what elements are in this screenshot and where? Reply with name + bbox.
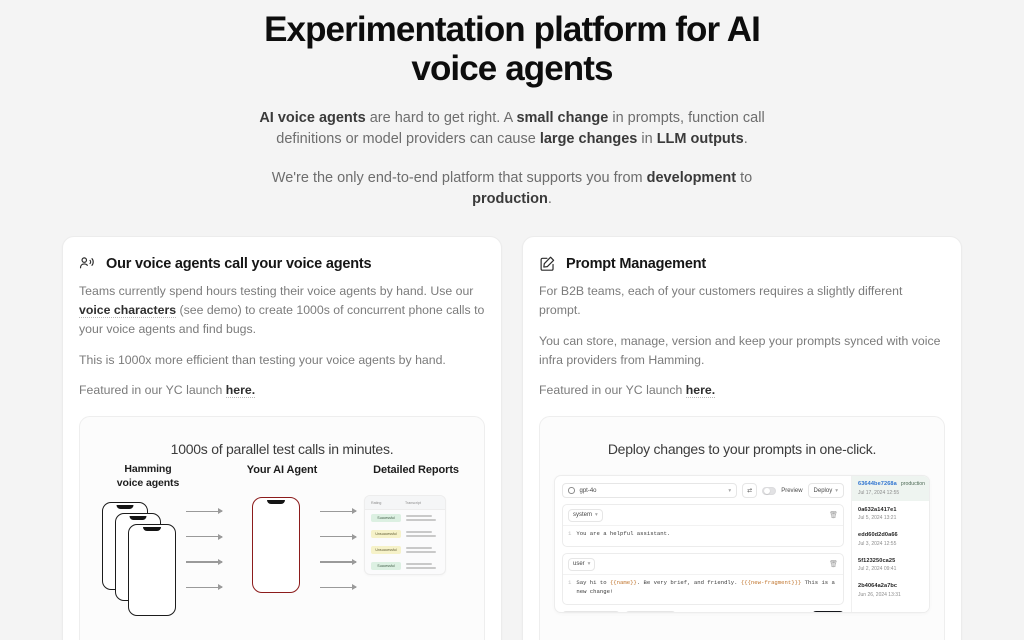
card-paragraph: This is 1000x more efficient than testin… bbox=[79, 351, 485, 370]
card-header: Prompt Management bbox=[539, 255, 945, 272]
version-hash: 0a632a1417e1 bbox=[858, 507, 897, 513]
chevron-down-icon: ▾ bbox=[588, 561, 591, 567]
add-message-button[interactable]: + Add message bbox=[562, 611, 620, 613]
add-tools-button[interactable]: </> Add tools bbox=[625, 611, 676, 613]
chevron-down-icon: ▾ bbox=[835, 488, 838, 494]
inline-link[interactable]: voice characters bbox=[79, 303, 176, 318]
message-header: system ▾ 🗑 bbox=[563, 505, 843, 526]
report-rows: SuccessfulUnsuccessfulUnsuccessfulSucces… bbox=[365, 510, 445, 574]
role-select-system[interactable]: system ▾ bbox=[568, 509, 603, 522]
card-paragraph: Featured in our YC launch here. bbox=[539, 381, 945, 400]
role-select-user[interactable]: user ▾ bbox=[568, 558, 595, 571]
transcript-preview bbox=[406, 563, 436, 569]
panel-title: 1000s of parallel test calls in minutes. bbox=[80, 417, 484, 457]
card-header: Our voice agents call your voice agents bbox=[79, 255, 485, 272]
arrow-group-left bbox=[186, 511, 222, 612]
trash-icon[interactable]: 🗑 bbox=[829, 560, 838, 568]
person-speaking-icon bbox=[79, 255, 96, 272]
transcript-preview bbox=[406, 547, 436, 553]
page-title: Experimentation platform for AI voice ag… bbox=[232, 4, 792, 88]
transcript-preview bbox=[406, 515, 436, 521]
version-list-item[interactable]: 5f123250ca25Jul 2, 2024 09:41 bbox=[852, 552, 929, 578]
message-body[interactable]: 1 Say hi to {{name}}. Be very brief, and… bbox=[563, 575, 843, 603]
version-list-item[interactable]: 0a632a1417e1Jul 5, 2024 13:21 bbox=[852, 501, 929, 527]
card-voice-agents: Our voice agents call your voice agents … bbox=[62, 236, 502, 640]
hero-paragraph-2: We're the only end-to-end platform that … bbox=[247, 168, 777, 210]
hero-section: Experimentation platform for AI voice ag… bbox=[0, 0, 1024, 210]
version-history-list[interactable]: 63644be7268aproductionJul 17, 2024 12:55… bbox=[851, 476, 929, 612]
code-text: You are a helpful assistant. bbox=[576, 530, 670, 537]
inline-link[interactable]: here. bbox=[686, 383, 715, 398]
model-name: gpt-4o bbox=[580, 488, 597, 494]
role-label: user bbox=[573, 561, 585, 567]
version-date: Jul 17, 2024 12:55 bbox=[858, 490, 923, 496]
inline-text: Featured in our YC launch bbox=[539, 383, 686, 397]
diagram-column-hamming: Hamming voice agents bbox=[96, 463, 200, 627]
inline-text: You can store, manage, version and keep … bbox=[539, 334, 940, 367]
feature-cards: Our voice agents call your voice agents … bbox=[0, 236, 1024, 640]
version-list-item[interactable]: edd60d2d0a66Jul 3, 2024 12:55 bbox=[852, 527, 929, 553]
version-list-item[interactable]: 63644be7268aproductionJul 17, 2024 12:55 bbox=[852, 476, 929, 502]
inline-text: Teams currently spend hours testing thei… bbox=[79, 284, 473, 298]
column-header-transcript: Transcript bbox=[405, 501, 421, 505]
editor-toolbar: gpt-4o ▾ ⇄ Preview Deploy ▾ bbox=[562, 483, 844, 499]
call-flow-diagram: Hamming voice agents bbox=[80, 463, 484, 640]
edit-square-icon bbox=[539, 255, 556, 272]
diagram-label-hamming: Hamming voice agents bbox=[96, 463, 200, 490]
phone-stack bbox=[96, 502, 200, 627]
diff-toggle-button[interactable]: ⇄ bbox=[742, 483, 757, 498]
arrow-group-right bbox=[320, 511, 356, 612]
prompt-deploy-panel: Deploy changes to your prompts in one-cl… bbox=[539, 416, 945, 640]
version-list-item[interactable]: 2b4064a2a7bcJun 26, 2024 13:31 bbox=[852, 578, 929, 604]
card-prompt-management: Prompt Management For B2B teams, each of… bbox=[522, 236, 962, 640]
version-hash: edd60d2d0a66 bbox=[858, 532, 898, 538]
landing-page: Experimentation platform for AI voice ag… bbox=[0, 0, 1024, 640]
version-date: Jun 26, 2024 13:31 bbox=[858, 592, 923, 598]
version-date: Jul 5, 2024 13:21 bbox=[858, 515, 923, 521]
version-hash: 2b4064a2a7bc bbox=[858, 583, 897, 589]
template-variable: {{name}} bbox=[610, 579, 637, 586]
card-body: For B2B teams, each of your customers re… bbox=[539, 282, 945, 399]
editor-main: gpt-4o ▾ ⇄ Preview Deploy ▾ bbox=[555, 476, 851, 612]
table-row[interactable]: Unsuccessful bbox=[365, 526, 445, 542]
card-paragraph: You can store, manage, version and keep … bbox=[539, 332, 945, 369]
table-header: Rating Transcript bbox=[365, 496, 445, 510]
inline-link[interactable]: here. bbox=[226, 383, 255, 398]
message-block-user: user ▾ 🗑 1 Say hi to {{name}}. Be very b… bbox=[562, 553, 844, 604]
model-select[interactable]: gpt-4o ▾ bbox=[562, 483, 737, 499]
message-text: You are a helpful assistant. bbox=[576, 530, 670, 538]
inline-text: Featured in our YC launch bbox=[79, 383, 226, 397]
version-tag: production bbox=[901, 481, 925, 487]
inline-text: For B2B teams, each of your customers re… bbox=[539, 284, 902, 317]
table-row[interactable]: Successful bbox=[365, 558, 445, 574]
card-title: Our voice agents call your voice agents bbox=[106, 256, 371, 272]
editor-actions: + Add message </> Add tools Open in Play… bbox=[562, 611, 844, 613]
status-badge: Unsuccessful bbox=[371, 530, 401, 538]
role-label: system bbox=[573, 512, 592, 518]
diagram-label-agent: Your AI Agent bbox=[230, 463, 334, 477]
diagram-column-agent: Your AI Agent bbox=[230, 463, 334, 614]
report-table[interactable]: Rating Transcript SuccessfulUnsuccessful… bbox=[364, 495, 446, 575]
status-badge: Unsuccessful bbox=[371, 546, 401, 554]
line-number: 1 bbox=[568, 579, 571, 595]
phone-outline bbox=[252, 497, 300, 593]
version-date: Jul 3, 2024 12:55 bbox=[858, 541, 923, 547]
hero-paragraph-1: AI voice agents are hard to get right. A… bbox=[247, 108, 777, 150]
phone-outline bbox=[128, 524, 176, 616]
preview-label: Preview bbox=[781, 488, 802, 494]
version-hash: 5f123250ca25 bbox=[858, 558, 895, 564]
card-paragraph: Teams currently spend hours testing thei… bbox=[79, 282, 485, 338]
status-badge: Successful bbox=[371, 514, 401, 522]
parallel-calls-panel: 1000s of parallel test calls in minutes.… bbox=[79, 416, 485, 640]
card-paragraph: Featured in our YC launch here. bbox=[79, 381, 485, 400]
message-body[interactable]: 1 You are a helpful assistant. bbox=[563, 526, 843, 546]
card-paragraph: For B2B teams, each of your customers re… bbox=[539, 282, 945, 319]
diagram-column-reports: Detailed Reports Rating Transcript Succe… bbox=[364, 463, 468, 575]
message-block-system: system ▾ 🗑 1 You are a helpful assistant… bbox=[562, 504, 844, 547]
line-number: 1 bbox=[568, 530, 571, 538]
chevron-down-icon: ▾ bbox=[595, 512, 598, 518]
version-hash: 63644be7268a bbox=[858, 481, 897, 487]
chevron-down-icon: ▾ bbox=[728, 488, 731, 494]
code-text: . Be very brief, and friendly. bbox=[637, 579, 741, 586]
diagram-label-reports: Detailed Reports bbox=[364, 463, 468, 477]
table-row[interactable]: Unsuccessful bbox=[365, 542, 445, 558]
model-icon bbox=[568, 487, 575, 494]
save-button[interactable]: Save ▾ bbox=[812, 611, 844, 613]
inline-text: This is 1000x more efficient than testin… bbox=[79, 353, 446, 367]
transcript-preview bbox=[406, 531, 436, 537]
column-header-rating: Rating bbox=[371, 501, 399, 505]
code-text: Say hi to bbox=[576, 579, 610, 586]
prompt-editor-mock: gpt-4o ▾ ⇄ Preview Deploy ▾ bbox=[554, 475, 930, 613]
status-badge: Successful bbox=[371, 562, 401, 570]
message-header: user ▾ 🗑 bbox=[563, 554, 843, 575]
template-variable: {{{new-fragment}}} bbox=[741, 579, 801, 586]
panel-title: Deploy changes to your prompts in one-cl… bbox=[540, 417, 944, 457]
deploy-label: Deploy bbox=[814, 488, 833, 494]
agent-phone bbox=[230, 489, 334, 614]
deploy-button[interactable]: Deploy ▾ bbox=[808, 483, 844, 498]
card-body: Teams currently spend hours testing thei… bbox=[79, 282, 485, 399]
message-text: Say hi to {{name}}. Be very brief, and f… bbox=[576, 579, 838, 595]
trash-icon[interactable]: 🗑 bbox=[829, 511, 838, 519]
table-row[interactable]: Successful bbox=[365, 510, 445, 526]
card-title: Prompt Management bbox=[566, 256, 706, 272]
preview-toggle[interactable] bbox=[762, 487, 776, 495]
version-date: Jul 2, 2024 09:41 bbox=[858, 566, 923, 572]
